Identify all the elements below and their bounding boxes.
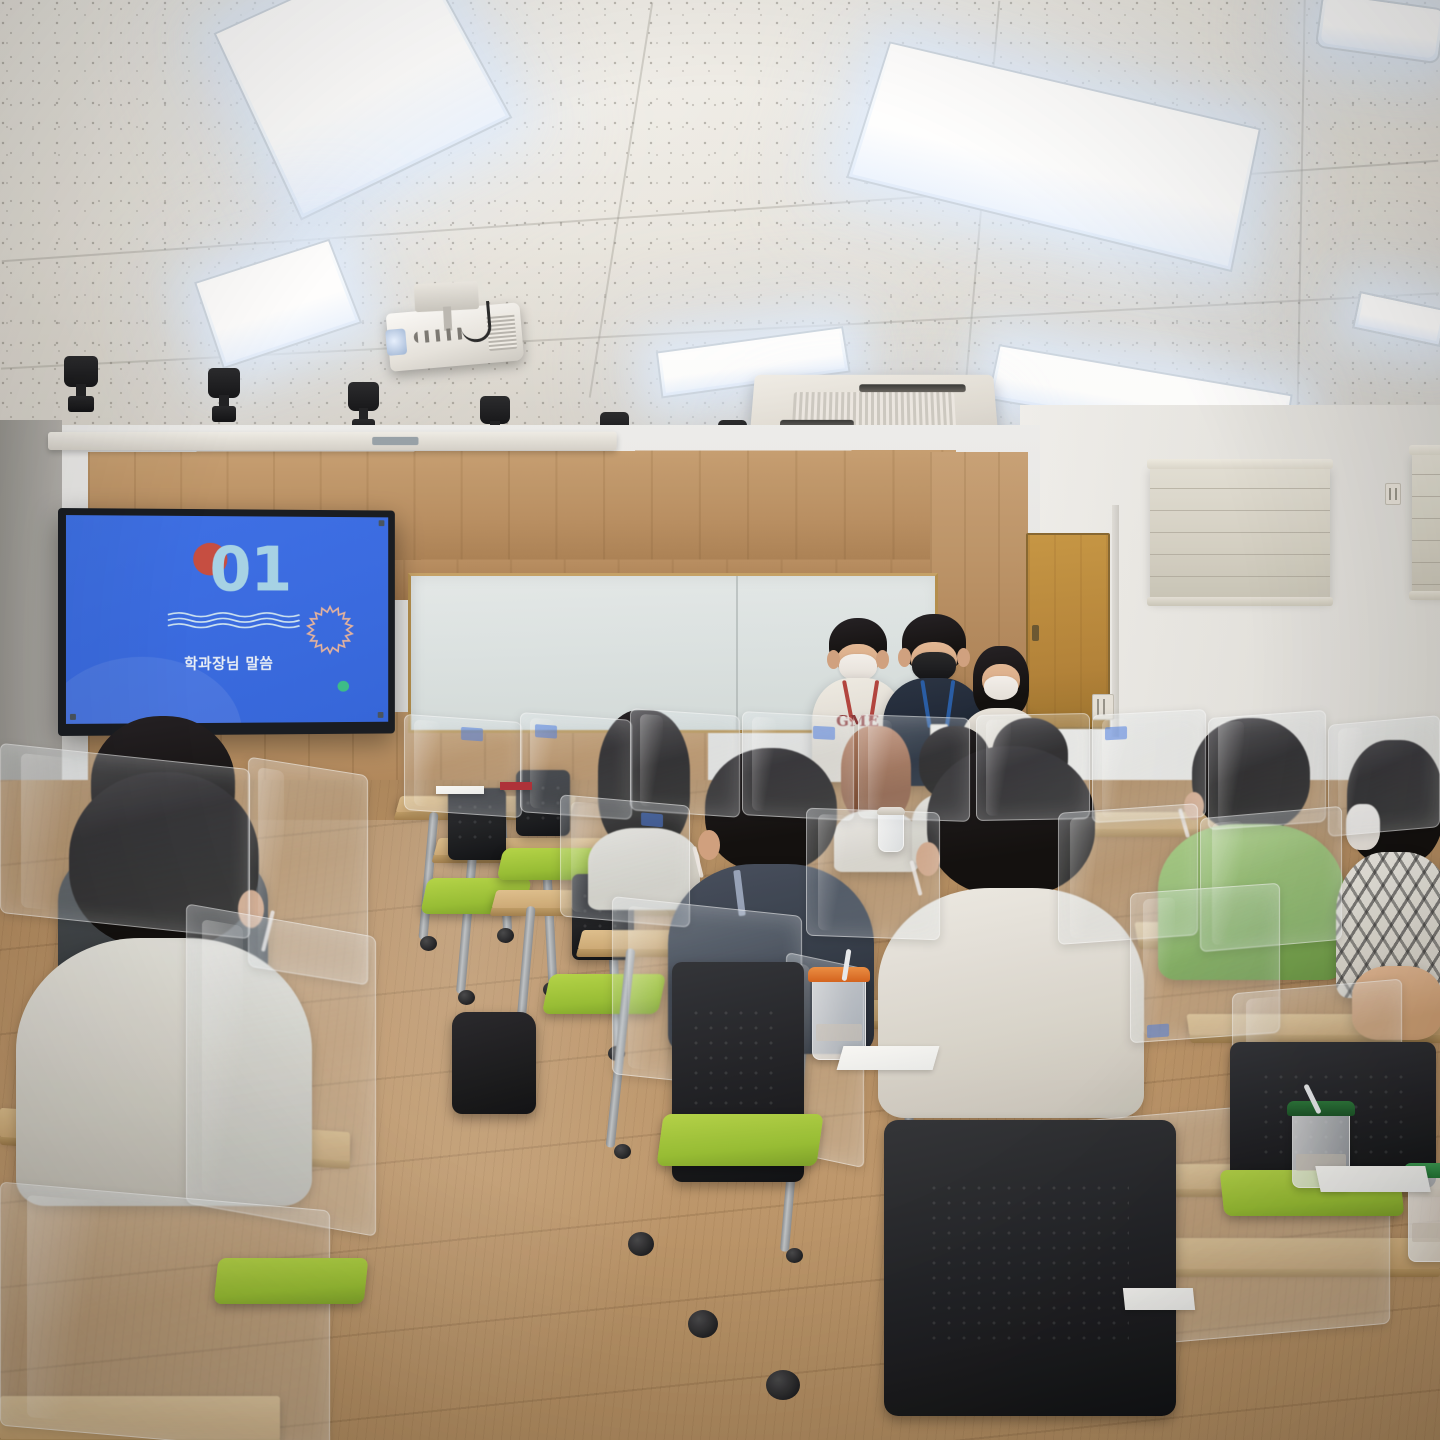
- drink-cup: [878, 812, 904, 852]
- spot-base: [68, 396, 94, 412]
- backpack-on-floor: [452, 1012, 536, 1114]
- cup-label: [1412, 1223, 1440, 1242]
- acrylic-desk-partition: [858, 714, 970, 822]
- window-roller-blind[interactable]: [1412, 452, 1440, 594]
- chair-caster: [628, 1232, 654, 1256]
- ac-vent: [860, 384, 966, 392]
- led-diffuser: [1320, 0, 1440, 59]
- handout-paper: [837, 1046, 940, 1070]
- cup-lid: [877, 807, 906, 815]
- partition-glare: [1218, 721, 1244, 824]
- face-mask: [984, 676, 1018, 700]
- partition-glare: [752, 717, 776, 812]
- chair-caster: [420, 936, 437, 951]
- chair-seat: [214, 1258, 369, 1304]
- chair-caster: [766, 1370, 800, 1400]
- projector-cable: [459, 301, 492, 343]
- partition-glare: [628, 906, 669, 1072]
- desk-marker-tray: [500, 782, 532, 790]
- cup-label: [816, 1024, 862, 1042]
- chair-caster: [458, 990, 475, 1005]
- acrylic-desk-partition: [404, 714, 522, 818]
- spot-housing: [64, 356, 98, 387]
- partition-glare: [27, 1195, 99, 1424]
- partition-glare: [986, 720, 1011, 816]
- presentation-slide: 01 학과장님 말씀: [66, 515, 388, 724]
- chair-caster: [614, 1144, 631, 1159]
- handout-paper: [436, 786, 484, 794]
- acrylic-desk-partition: [186, 903, 376, 1237]
- partition-glare: [1070, 816, 1100, 938]
- whiteboard-seam: [736, 576, 738, 730]
- partition-glare: [640, 714, 664, 808]
- slide-caption: 학과장님 말씀: [66, 652, 388, 674]
- blind-valance: [1147, 459, 1333, 469]
- display-sensor: [379, 520, 385, 526]
- partition-glare: [21, 753, 76, 913]
- face-mask: [839, 654, 877, 681]
- partition-glare: [202, 919, 243, 1200]
- spot-base: [212, 406, 236, 422]
- ceiling-mounted-projector: [386, 302, 525, 371]
- slide-sun-icon: [303, 603, 357, 658]
- cup-lid: [1287, 1101, 1354, 1116]
- blind-valance: [1409, 445, 1440, 455]
- partition-blue-marker: [1105, 726, 1127, 740]
- wall-switch-plate[interactable]: [1385, 483, 1401, 505]
- chair-caster: [688, 1310, 718, 1338]
- window-roller-blind[interactable]: [1150, 466, 1330, 600]
- projector-lens: [385, 328, 407, 356]
- spot-housing: [208, 368, 240, 398]
- partition-glare: [868, 719, 892, 814]
- acrylic-desk-partition: [742, 711, 854, 821]
- blind-hem-bar: [1147, 597, 1333, 606]
- spot-housing: [480, 396, 510, 424]
- acrylic-desk-partition: [0, 1182, 330, 1440]
- partition-blue-marker: [535, 724, 557, 739]
- cup-lid: [808, 967, 870, 982]
- classroom-photo: 01 학과장님 말씀: [0, 0, 1440, 1440]
- ear: [898, 648, 911, 667]
- display-indicator-led: [378, 712, 384, 718]
- chair-caster: [497, 928, 514, 943]
- chair-backrest: [884, 1120, 1176, 1416]
- slide-green-dot: [337, 681, 348, 692]
- partition-blue-marker: [813, 726, 835, 740]
- acrylic-desk-partition: [976, 713, 1090, 821]
- acrylic-desk-partition: [1328, 715, 1440, 837]
- track-spot-light: [208, 368, 240, 420]
- spot-housing: [348, 382, 379, 411]
- partition-blue-marker: [1147, 1024, 1169, 1039]
- ear: [827, 650, 840, 669]
- projector-control-panel: [413, 327, 466, 343]
- partition-blue-marker: [641, 812, 663, 827]
- screen-housing-label: [372, 437, 418, 445]
- partition-glare: [414, 719, 440, 807]
- handout-paper: [1315, 1166, 1431, 1192]
- ear: [698, 830, 720, 860]
- slide-number: 01: [209, 539, 291, 600]
- partition-blue-marker: [461, 727, 483, 742]
- projection-screen-housing: [48, 432, 617, 451]
- chair-caster: [786, 1248, 803, 1263]
- partition-glare: [1143, 897, 1176, 1035]
- blind-hem-bar: [1409, 591, 1440, 600]
- partition-glare: [571, 801, 599, 914]
- acrylic-desk-partition: [806, 808, 940, 941]
- partition-glare: [818, 814, 847, 931]
- handout-paper: [1123, 1288, 1195, 1310]
- wall-mounted-display[interactable]: 01 학과장님 말씀: [58, 508, 395, 736]
- door-handle[interactable]: [1032, 625, 1039, 641]
- chair-seat: [656, 1114, 823, 1166]
- slide-wave-decoration: [167, 611, 302, 632]
- track-spot-light: [64, 356, 98, 410]
- projector-vent: [486, 313, 517, 351]
